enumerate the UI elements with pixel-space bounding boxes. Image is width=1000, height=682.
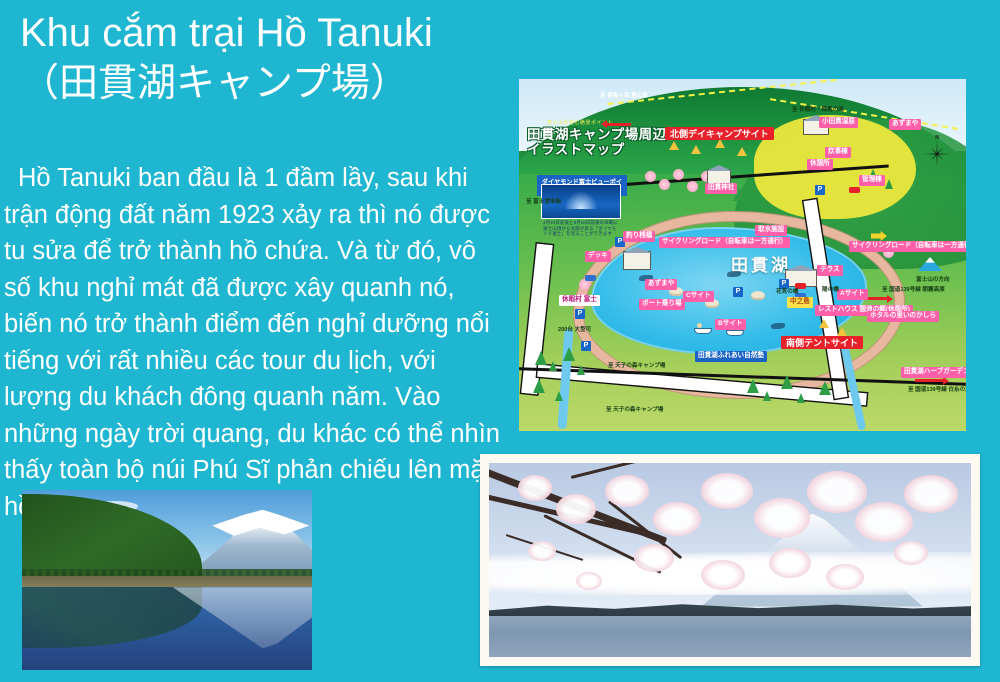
tree-icon [577,365,585,375]
cherry-tree-icon [659,179,670,190]
fish-icon [727,271,741,277]
map-label-hanami-bridge: 花見の橋 [773,287,801,298]
blossom-cluster [904,475,958,513]
blossom-cluster [807,471,867,513]
blossom-cluster [701,473,753,509]
car-icon [849,187,860,193]
map-label-deck: デッキ [585,251,611,262]
tree-icon [885,179,893,189]
body-paragraph: Hồ Tanuki ban đầu là 1 đầm lầy, sau khi … [4,160,504,525]
tent-icon [737,147,747,156]
tent-icon [669,141,679,150]
cherry-tree-icon [687,181,698,192]
photo-inner-frame [489,463,971,657]
parking-icon: P [581,341,591,351]
tree-icon [819,381,831,395]
tree-icon [763,391,771,401]
person-icon [697,323,702,328]
blossom-cluster [894,541,928,565]
illustrated-map: 田貫湖 富士山を望む絶景ポイント 田貫湖キャンプ場周辺 イラストマップ ダイヤモ… [519,79,966,431]
cherry-tree-icon [673,169,684,180]
blossom-cluster [701,560,745,590]
map-label-south-tent-site: 南側テントサイト [781,336,863,349]
map-label-azumaya-north: あずまや [889,119,921,130]
map-title: 田貫湖キャンプ場周辺 イラストマップ [527,127,667,157]
photo-fuji-reflection [22,490,312,670]
map-title-line1: 田貫湖キャンプ場周辺 [527,127,667,142]
parking-icon: P [733,287,743,297]
map-label-nature-school: 田貫湖ふれあい自然塾 [695,351,767,362]
slide-canvas: Khu cắm trại Hồ Tanuki （田貫湖キャンプ場） Hồ Tan… [0,0,1000,682]
tent-icon [715,139,725,148]
direction-arrow-icon [915,379,945,382]
fish-icon [771,323,785,329]
diamond-fuji-note: 4月20日前後と8月20日前後の早朝に富士山頂から太陽が昇る「ダイヤモンド富士」… [543,220,619,237]
tent-icon [819,319,829,328]
map-label-admin-building: 管理棟 [859,175,885,186]
tree-icon [533,379,545,393]
map-title-line2: イラストマップ [527,142,667,157]
map-label-to-tenshi-1: 至 天子の森キャンプ場 [605,361,668,372]
map-label-fishing-pier: 釣り桟橋 [623,231,655,242]
title-line-vi: Khu cắm trại Hồ Tanuki [20,8,520,58]
map-label-cycling-road-2: サイクリングロード（自転車は一方通行） [849,241,966,252]
map-wetland-zone [754,115,916,219]
map-label-to-shiraito: 至 国道139号線 白糸の滝 [905,385,966,396]
tree-icon [781,375,793,389]
parking-icon: P [575,309,585,319]
map-label-to-fujinomiya: 至 富士宮市街 [523,197,564,208]
map-label-rest-area: 休憩所 [807,159,833,170]
blossom-cluster [769,548,811,578]
tree-icon [535,351,547,365]
tree-icon [563,347,575,361]
map-label-azumaya-south: あずまや [645,279,677,290]
title-line-jp: （田貫湖キャンプ場） [20,58,520,110]
map-label-site-c: Cサイト [683,291,714,302]
tent-icon [691,145,701,154]
parking-icon: P [815,185,825,195]
page-title: Khu cắm trại Hồ Tanuki （田貫湖キャンプ場） [20,8,520,110]
map-label-nakanoshima: 中之島 [787,297,813,308]
lake-water-shape [489,616,971,657]
map-label-hotaru-village: ホタルの里いのかしら [867,311,939,322]
map-label-odanuki-wetland: 小田貫湿原 [819,117,858,128]
blossom-cluster [653,502,701,536]
map-label-to-chojagatake: 至 長者ヶ岳 登山道 [597,91,651,102]
building-icon [707,169,731,184]
map-label-cooking-hut: 炊事棟 [825,147,851,158]
map-label-site-b: Bサイト [715,319,746,330]
blossom-cluster [634,544,674,572]
map-label-boat-landing: ボート乗り場 [639,299,685,310]
tree-icon [797,393,805,403]
map-label-to-jinba: 至 休暇村・陣馬の滝 [789,105,847,116]
map-label-to-tenshi-2: 至 天子の森キャンプ場 [603,405,666,416]
map-label-water-facility: 取水施設 [755,225,787,236]
car-icon [585,275,596,281]
blossom-cluster [754,498,810,538]
blossom-cluster [576,572,602,590]
blossom-cluster [528,541,556,561]
tree-icon [747,379,759,393]
blossom-cluster [855,502,913,542]
tree-icon [555,391,563,401]
compass-rose-icon: N [924,141,950,167]
tree-icon [549,361,557,371]
cherry-tree-icon [645,171,656,182]
boat-icon [695,329,711,333]
map-label-to-asagiri: 至 国道139号線 朝霧高原 [879,285,948,296]
blossom-cluster [518,475,552,501]
photo-cherry-blossom-fuji [480,454,980,666]
map-label-tanuki-shrine: 田貫神社 [705,183,737,194]
building-icon [623,251,651,270]
map-label-hi-bridge: 陽の橋 [819,285,842,296]
map-label-terrace: テラス [817,265,843,276]
blossom-cluster [605,475,649,507]
blossom-cluster [826,564,864,590]
map-label-kyukamura-fuji: 休暇村 富士 [559,295,600,306]
tent-icon [837,327,847,336]
map-label-north-day-camp: 北側デイキャンプサイト [665,127,774,140]
rock-icon [751,291,765,300]
map-label-herb-garden: 田貫湖ハーブガーデン [901,367,966,378]
compass-north-label: N [935,135,939,141]
boat-icon [727,331,743,335]
map-label-cycling-road-1: サイクリングロード（自転車は一方通行） [659,237,790,248]
direction-arrow-icon [605,123,631,126]
map-label-parking-capacity: 200台 大型可 [555,325,594,336]
